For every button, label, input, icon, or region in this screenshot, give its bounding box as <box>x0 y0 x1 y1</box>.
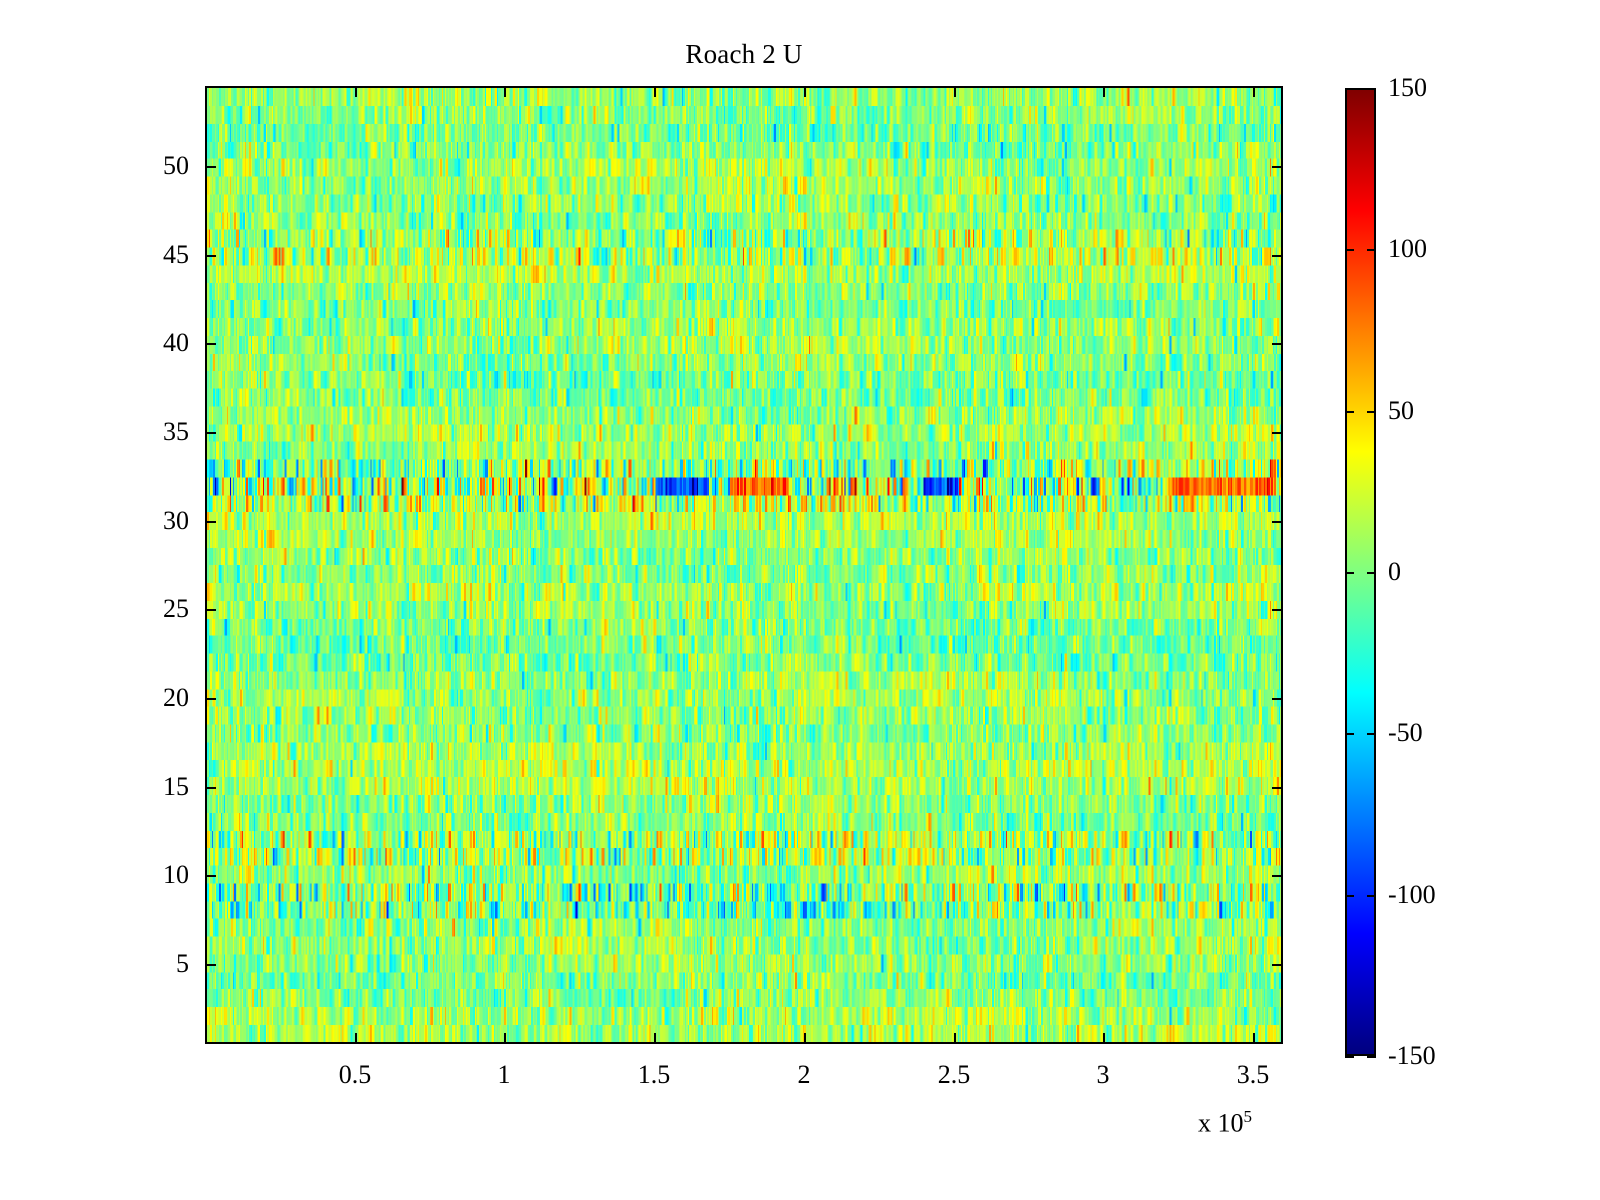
heatmap-image[interactable] <box>207 88 1281 1042</box>
y-tick-mark-right <box>1272 255 1283 257</box>
y-tick-label: 45 <box>119 242 189 268</box>
y-tick-label: 25 <box>119 596 189 622</box>
x-tick-label: 3.5 <box>1193 1062 1313 1088</box>
y-tick-mark-right <box>1272 875 1283 877</box>
colorbar-tick-label: 0 <box>1388 559 1401 585</box>
colorbar-tick-mark-right <box>1367 733 1376 735</box>
y-tick-label: 35 <box>119 419 189 445</box>
colorbar-tick-mark-right <box>1367 1056 1376 1058</box>
y-tick-mark-right <box>1272 698 1283 700</box>
y-tick-mark-right <box>1272 609 1283 611</box>
x-exponent-power: 5 <box>1244 1107 1253 1126</box>
y-tick-label: 5 <box>119 951 189 977</box>
y-tick-mark <box>205 698 216 700</box>
y-tick-label: 20 <box>119 685 189 711</box>
x-tick-mark <box>355 1033 357 1044</box>
colorbar-tick-label: -50 <box>1388 720 1423 746</box>
colorbar-tick-label: -150 <box>1388 1043 1436 1069</box>
y-tick-label: 40 <box>119 330 189 356</box>
x-tick-mark-top <box>355 86 357 97</box>
y-tick-mark-right <box>1272 166 1283 168</box>
x-tick-mark-top <box>804 86 806 97</box>
figure-canvas: Roach 2 U 5045403530252015105 0.511.522.… <box>0 0 1600 1200</box>
x-tick-mark-top <box>654 86 656 97</box>
y-tick-mark <box>205 521 216 523</box>
y-tick-label: 50 <box>119 153 189 179</box>
colorbar-tick-label: 150 <box>1388 75 1427 101</box>
colorbar-tick-mark-right <box>1367 411 1376 413</box>
y-tick-mark-right <box>1272 343 1283 345</box>
colorbar-tick-mark <box>1345 572 1354 574</box>
colorbar-tick-mark-right <box>1367 88 1376 90</box>
x-axis-exponent-label: x 105 <box>1198 1104 1252 1137</box>
colorbar-tick-mark-right <box>1367 249 1376 251</box>
y-tick-mark <box>205 964 216 966</box>
y-tick-label: 30 <box>119 508 189 534</box>
y-tick-mark-right <box>1272 964 1283 966</box>
colorbar-tick-mark-right <box>1367 572 1376 574</box>
y-tick-mark <box>205 875 216 877</box>
x-tick-mark-top <box>1103 86 1105 97</box>
colorbar-tick-mark <box>1345 88 1354 90</box>
x-tick-mark <box>1253 1033 1255 1044</box>
y-tick-mark-right <box>1272 787 1283 789</box>
x-tick-mark-top <box>504 86 506 97</box>
x-tick-label: 1.5 <box>594 1062 714 1088</box>
x-tick-label: 2 <box>744 1062 864 1088</box>
colorbar-tick-label: 100 <box>1388 236 1427 262</box>
colorbar-tick-mark <box>1345 249 1354 251</box>
x-tick-mark-top <box>954 86 956 97</box>
colorbar-tick-label: -100 <box>1388 882 1436 908</box>
x-tick-label: 0.5 <box>295 1062 415 1088</box>
y-tick-mark-right <box>1272 521 1283 523</box>
colorbar-tick-mark <box>1345 895 1354 897</box>
y-tick-mark <box>205 166 216 168</box>
colorbar-tick-mark <box>1345 733 1354 735</box>
y-tick-mark <box>205 609 216 611</box>
y-tick-label: 10 <box>119 862 189 888</box>
y-tick-mark-right <box>1272 432 1283 434</box>
x-tick-label: 3 <box>1043 1062 1163 1088</box>
y-tick-mark <box>205 343 216 345</box>
x-tick-label: 2.5 <box>894 1062 1014 1088</box>
y-tick-mark <box>205 787 216 789</box>
x-tick-label: 1 <box>444 1062 564 1088</box>
y-tick-mark <box>205 432 216 434</box>
x-tick-mark-top <box>1253 86 1255 97</box>
colorbar-tick-mark <box>1345 1056 1354 1058</box>
x-tick-mark <box>504 1033 506 1044</box>
y-tick-mark <box>205 255 216 257</box>
colorbar-tick-mark-right <box>1367 895 1376 897</box>
x-tick-mark <box>954 1033 956 1044</box>
x-tick-mark <box>654 1033 656 1044</box>
x-exponent-prefix: x 10 <box>1198 1109 1244 1138</box>
x-tick-mark <box>804 1033 806 1044</box>
page-title: Roach 2 U <box>205 38 1283 70</box>
heatmap-axes[interactable] <box>205 86 1283 1044</box>
x-tick-mark <box>1103 1033 1105 1044</box>
colorbar-tick-mark <box>1345 411 1354 413</box>
y-tick-label: 15 <box>119 774 189 800</box>
colorbar-tick-label: 50 <box>1388 398 1414 424</box>
